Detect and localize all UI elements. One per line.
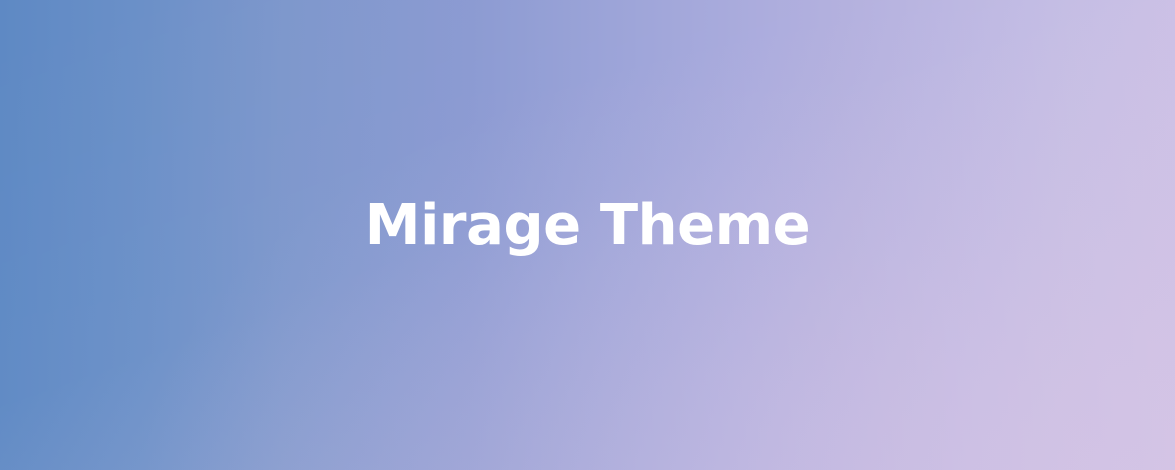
hero-banner: Mirage Theme — [0, 0, 1175, 470]
page-title: Mirage Theme — [365, 195, 810, 258]
hero-content: Mirage Theme — [365, 195, 810, 258]
